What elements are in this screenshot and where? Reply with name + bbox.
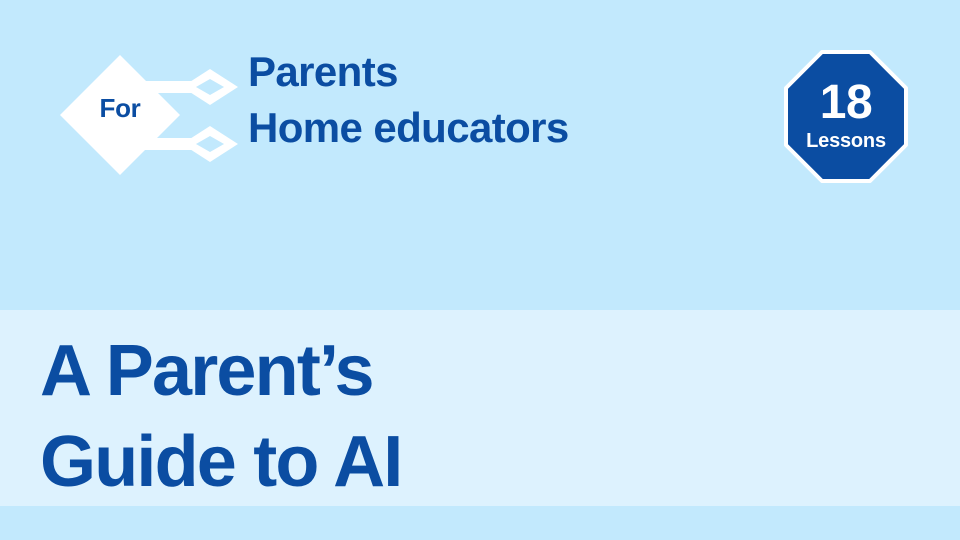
for-label: For	[60, 95, 180, 121]
audience-item-parents: Parents	[248, 44, 569, 100]
octagon-icon	[784, 50, 908, 183]
slide-canvas: For Parents Home educators 18 Lessons A …	[0, 0, 960, 540]
audience-item-home-educators: Home educators	[248, 100, 569, 156]
audience-list: Parents Home educators	[248, 44, 569, 156]
page-title-line-2: Guide to AI	[40, 417, 780, 508]
for-diamond-connector-graphic: For	[52, 48, 242, 183]
background-band-bottom	[0, 506, 960, 540]
page-title: A Parent’s Guide to AI	[40, 326, 780, 508]
page-title-line-1: A Parent’s	[40, 326, 780, 417]
audience-lockup: For Parents Home educators	[52, 48, 652, 183]
lessons-badge: 18 Lessons	[784, 50, 908, 183]
